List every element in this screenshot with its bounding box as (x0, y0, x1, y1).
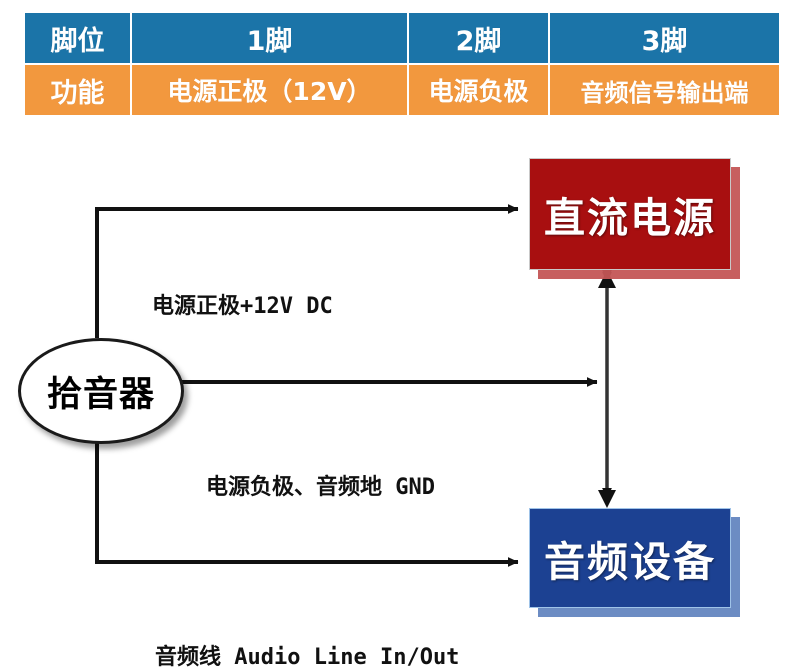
table-cell-pin-header: 脚位 (24, 12, 131, 64)
table-cell-pin-3: 3脚 (549, 12, 780, 64)
table-cell-function-3: 音频信号输出端 (549, 64, 780, 116)
edge-label-ground: 电源负极、音频地 GND (206, 477, 435, 499)
pin-function-table: 脚位 1脚 2脚 3脚 功能 电源正极（12V） 电源负极 音频信号输出端 (24, 12, 780, 116)
node-pickup-label: 拾音器 (47, 366, 155, 417)
connection-diagram: 拾音器 直流电源 音频设备 电源正极+12V DC 电源负极、音频地 GND 音… (0, 130, 804, 646)
edge-label-power-mono: +12V DC (240, 294, 333, 319)
table-cell-pin-1: 1脚 (131, 12, 408, 64)
edge-label-power: 电源正极+12V DC (152, 296, 333, 318)
trunk-arrowhead-top (598, 270, 616, 288)
table-cell-function-1: 电源正极（12V） (131, 64, 408, 116)
edge-label-audio-mono: Audio Line In/Out (221, 645, 459, 670)
table-cell-function-2: 电源负极 (408, 64, 549, 116)
node-audio-device-label: 音频设备 (544, 528, 716, 588)
edge-label-audio-cn: 音频线 (155, 645, 221, 670)
table-cell-function-header: 功能 (24, 64, 131, 116)
node-pickup[interactable]: 拾音器 (18, 338, 184, 444)
node-dc-power[interactable]: 直流电源 (529, 158, 731, 270)
edge-label-audio: 音频线 Audio Line In/Out (155, 647, 459, 669)
table-cell-pin-2: 2脚 (408, 12, 549, 64)
node-dc-power-label: 直流电源 (544, 184, 716, 244)
edge-label-power-cn: 电源正极 (152, 294, 240, 319)
edge-label-ground-mono: GND (382, 475, 435, 500)
diagram-page: 脚位 1脚 2脚 3脚 功能 电源正极（12V） 电源负极 音频信号输出端 (0, 0, 804, 646)
trunk-arrowhead-bottom (598, 490, 616, 508)
edge-label-ground-cn: 电源负极、音频地 (206, 475, 382, 500)
node-audio-device[interactable]: 音频设备 (529, 508, 731, 608)
